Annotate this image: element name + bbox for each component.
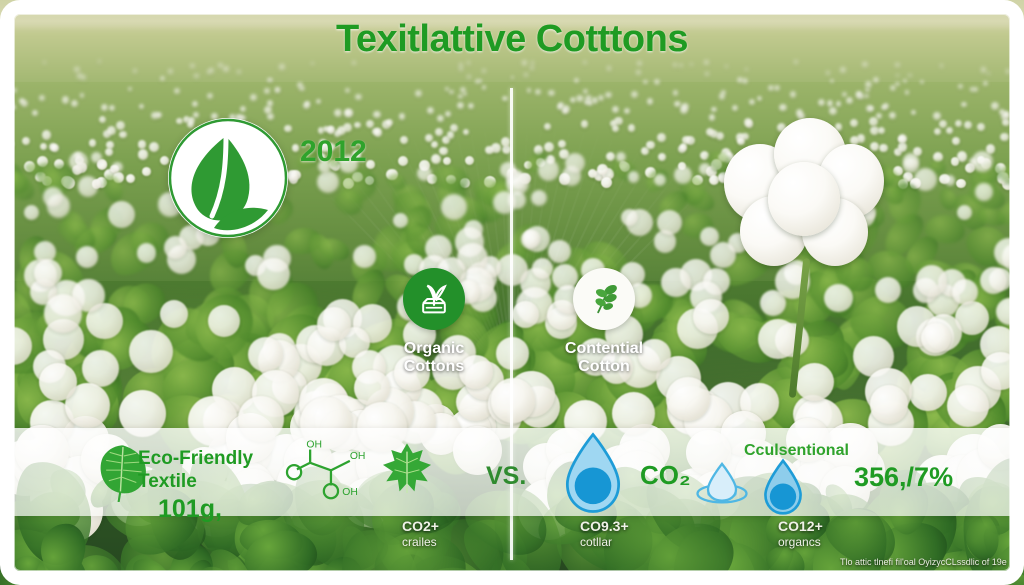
svg-text:OH: OH [306, 440, 322, 451]
percent-value: 356,/7% [854, 462, 953, 493]
versus-label: VS. [486, 462, 526, 491]
caption-co93-cotllar: CO9.3+ cotllar [580, 518, 629, 549]
eco-friendly-stat: Eco-Friendly Textile 101g, [138, 448, 253, 524]
seedling-in-box-icon [403, 268, 465, 330]
category-conventional-label: Contential Cotton [556, 340, 652, 376]
category-organic: Organic Cottons [386, 268, 482, 376]
caption-a-line2: crailes [402, 535, 439, 549]
chemical-structure-icon: OH OH OH [278, 438, 382, 519]
water-droplet-ripple-icon [694, 460, 750, 513]
maple-leaf-icon [378, 440, 436, 503]
caption-b-line1: CO9.3+ [580, 518, 629, 535]
caption-co12-organcs: CO12+ organcs [778, 518, 823, 549]
water-droplet-solid-icon [760, 458, 806, 521]
eco-line2: Textile [138, 471, 197, 492]
conventional-label-line1: Contential [565, 340, 643, 357]
hero-cotton-boll [718, 110, 888, 290]
organic-label-line2: Cottons [404, 358, 464, 375]
conventional-label-line2: Cotton [578, 358, 630, 375]
plant-sprig-icon [573, 268, 635, 330]
eco-line1: Eco-Friendly [138, 448, 253, 469]
category-organic-label: Organic Cottons [386, 340, 482, 376]
poster-root: Texitlattive Cotttons 2012 Organic Cotto… [0, 0, 1024, 585]
caption-co2-crailes: CO2+ crailes [402, 518, 439, 549]
page-title: Texitlattive Cotttons [0, 18, 1024, 61]
eco-value: 101g, [138, 494, 253, 524]
caption-b-line2: cotllar [580, 535, 629, 549]
water-droplet-icon [560, 430, 626, 521]
category-conventional: Contential Cotton [556, 268, 652, 376]
year-label: 2012 [300, 135, 367, 169]
co2-label: CO₂ [640, 460, 691, 491]
caption-a-line1: CO2+ [402, 518, 439, 535]
caption-c-line2: organcs [778, 535, 823, 549]
caption-c-line1: CO12+ [778, 518, 823, 535]
svg-text:OH: OH [350, 451, 366, 462]
svg-text:OH: OH [342, 487, 358, 498]
leaf-droplet-logo-icon [168, 118, 288, 238]
footnote-text: Tlo attic tlnefi fil'oal OyizycCLssdlic … [840, 557, 1007, 567]
organic-label-line1: Organic [404, 340, 464, 357]
